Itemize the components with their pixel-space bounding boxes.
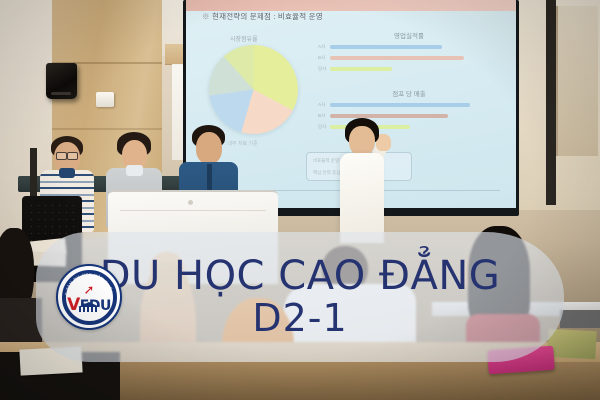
- head: [349, 126, 375, 156]
- eyeglasses-right-lens: [67, 152, 78, 160]
- building-columns: [79, 307, 99, 312]
- slide-header-band: [186, 0, 516, 11]
- chair-post: [30, 148, 37, 200]
- logo-inner-disc: ➚ VEDU: [67, 275, 111, 319]
- bar-row: A사: [318, 44, 500, 50]
- light-switch: [96, 92, 114, 107]
- bar-row-label: 당사: [318, 66, 330, 72]
- wall-speaker: [46, 63, 77, 99]
- columned-building-icon: [78, 302, 100, 312]
- pie-chart-caption: 시장점유율: [230, 34, 258, 43]
- slide-header-title: ※ 현재전략의 문제점 : 비효율적 운영: [202, 11, 323, 22]
- wall-shadow-edge: [546, 0, 556, 205]
- foreground-student-far-left: [0, 228, 40, 346]
- collar: [59, 168, 75, 178]
- torso: [340, 153, 384, 243]
- bar-fill: [330, 45, 442, 49]
- bar-row-label: B사: [318, 113, 330, 119]
- slide-header-text: 현재전략의 문제점 : 비효율적 운영: [212, 12, 323, 21]
- banner-title-line-2: D2-1: [252, 299, 347, 339]
- vedu-logo: TRUNG TÂM DU HỌC HÀN QUỐC VEDU ➚ VEDU: [56, 264, 122, 330]
- slide-bullet-icon: ※: [202, 12, 210, 21]
- bar-row: A사: [318, 102, 500, 108]
- bar-row: B사: [318, 55, 500, 61]
- bar-row: 당사: [318, 66, 500, 72]
- bar-row-label: 당사: [318, 124, 330, 130]
- bar-group-1-caption: 영업실적률: [318, 30, 500, 40]
- bar-row-label: A사: [318, 102, 330, 108]
- bar-fill: [330, 67, 392, 71]
- podium-edge: [120, 210, 266, 211]
- book-grey: [560, 310, 600, 328]
- bar-row-label: B사: [318, 55, 330, 61]
- screenshot-root: ※ 현재전략의 문제점 : 비효율적 운영 시장점유율 자료 : 내부 자료 기…: [0, 0, 600, 400]
- door-frame: [556, 6, 598, 156]
- bar-chart-group-1: 영업실적률 A사 B사 당사: [318, 30, 500, 77]
- bar-group-2-caption: 점포 당 매출: [318, 88, 500, 98]
- eyeglasses-left-lens: [56, 152, 67, 160]
- bar-row-label: A사: [318, 44, 330, 50]
- podium-knob: [188, 200, 193, 205]
- bar-fill: [330, 103, 470, 107]
- head: [196, 132, 222, 164]
- collar: [126, 165, 143, 176]
- banner-title-line-1: DU HỌC CAO ĐẲNG: [100, 255, 501, 297]
- presenter-pointing-at-screen: [338, 118, 394, 243]
- bar-fill: [330, 56, 464, 60]
